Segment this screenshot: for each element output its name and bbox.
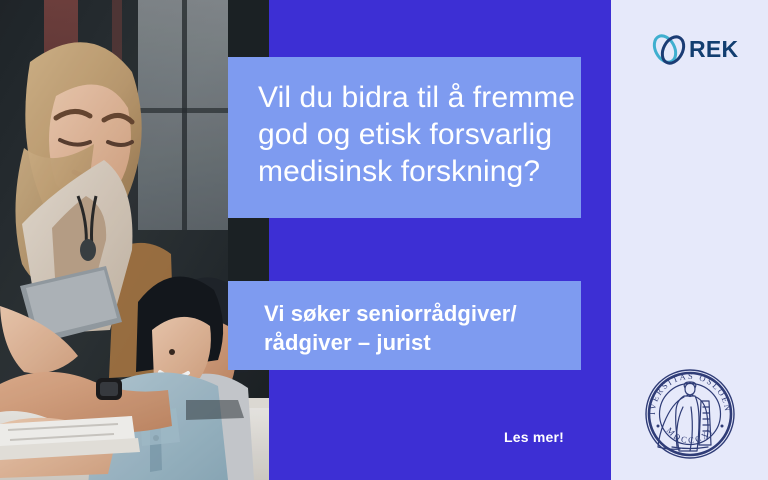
- uio-seal: UNIVERSITAS OSLOENSIS MDCCCXI: [639, 363, 741, 465]
- job-advert-banner: Vil du bidra til å fremme god og etisk f…: [0, 0, 768, 480]
- headline-line-1: Vil du bidra til å fremme: [258, 79, 553, 116]
- subheadline-card: Vi søker seniorrådgiver/ rådgiver – juri…: [228, 281, 581, 370]
- headline-card: Vil du bidra til å fremme god og etisk f…: [228, 57, 581, 218]
- subheadline-line-2: rådgiver – jurist: [264, 328, 557, 357]
- rek-interlocking-rings-icon: [650, 29, 688, 69]
- subheadline-line-1: Vi søker seniorrådgiver/: [264, 299, 557, 328]
- rek-wordmark: REK: [689, 38, 738, 61]
- headline-line-2: god og etisk forsvarlig: [258, 116, 553, 153]
- read-more-link[interactable]: Les mer!: [504, 429, 564, 445]
- headline-line-3: medisinsk forskning?: [258, 153, 553, 190]
- rek-logo[interactable]: REK: [650, 28, 736, 70]
- uio-seal-icon: UNIVERSITAS OSLOENSIS MDCCCXI: [639, 363, 741, 465]
